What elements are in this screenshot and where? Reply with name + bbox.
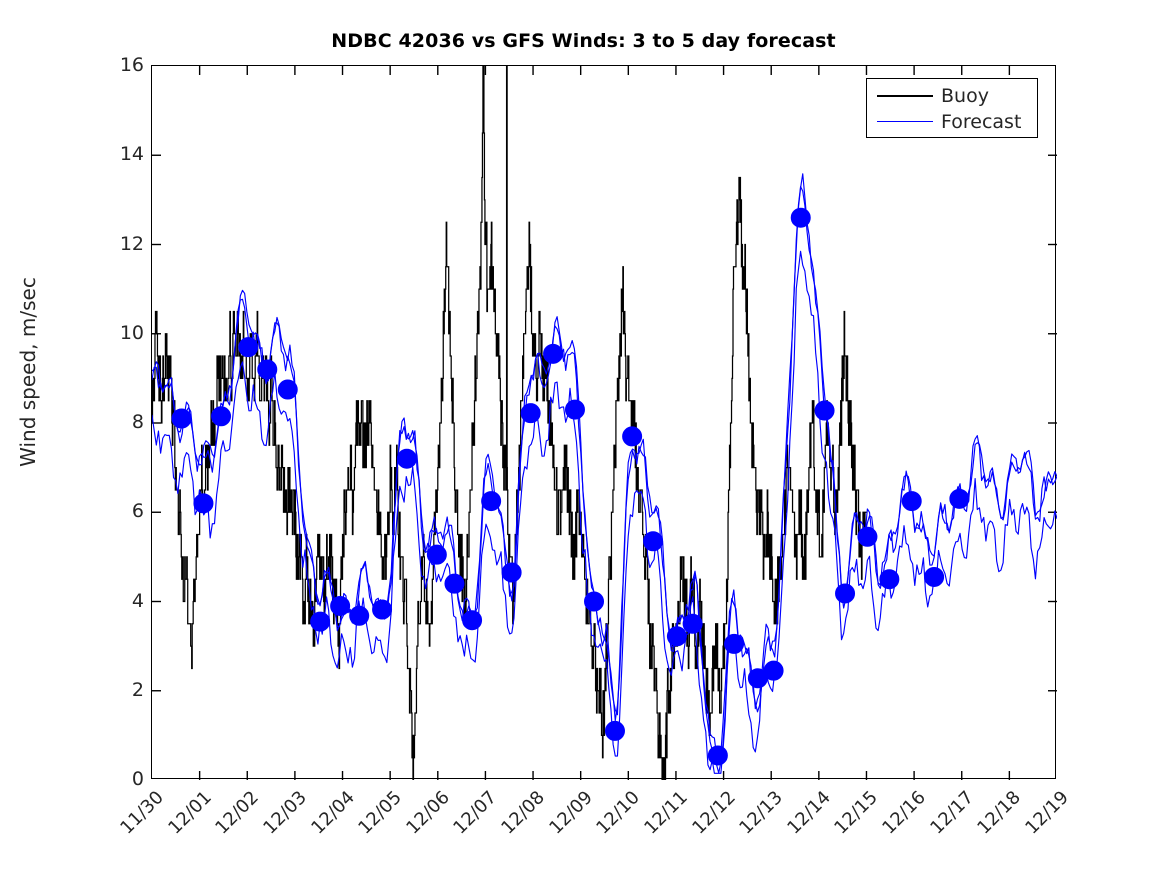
chart-title: NDBC 42036 vs GFS Winds: 3 to 5 day fore… [0, 30, 1167, 52]
legend-swatch-forecast [877, 121, 933, 122]
data-point-marker[interactable] [683, 614, 702, 633]
data-point-marker[interactable] [791, 208, 810, 227]
x-tick-label: 12/15 [824, 787, 883, 846]
y-axis-title: Wind speed, m/sec [16, 142, 40, 602]
data-point-marker[interactable] [565, 400, 584, 419]
data-point-marker[interactable] [880, 570, 899, 589]
x-tick-label: 12/14 [776, 787, 835, 846]
data-point-marker[interactable] [373, 600, 392, 619]
data-point-marker[interactable] [585, 592, 604, 611]
y-tick-label: 8 [94, 411, 144, 433]
data-point-marker[interactable] [445, 574, 464, 593]
data-point-marker[interactable] [350, 606, 369, 625]
x-tick-label: 12/12 [681, 787, 740, 846]
data-point-marker[interactable] [331, 596, 350, 615]
data-point-marker[interactable] [397, 449, 416, 468]
data-point-marker[interactable] [925, 567, 944, 586]
x-tick-label: 12/07 [443, 787, 502, 846]
data-point-marker[interactable] [764, 661, 783, 680]
y-tick-label: 6 [94, 500, 144, 522]
legend-item-buoy: Buoy [867, 83, 1039, 109]
data-point-marker[interactable] [463, 611, 482, 630]
x-tick-label: 12/13 [728, 787, 787, 846]
data-point-marker[interactable] [427, 545, 446, 564]
x-tick-label: 12/08 [490, 787, 549, 846]
data-point-marker[interactable] [311, 612, 330, 631]
x-tick-label: 12/01 [157, 787, 216, 846]
legend-label-forecast: Forecast [941, 109, 1021, 135]
x-tick-label: 12/17 [919, 787, 978, 846]
data-point-marker[interactable] [502, 563, 521, 582]
y-axis-tick-labels: 0246810121416 [88, 65, 144, 779]
x-tick-label: 12/19 [1014, 787, 1073, 846]
x-tick-label: 12/05 [347, 787, 406, 846]
x-tick-label: 12/11 [633, 787, 692, 846]
data-point-marker[interactable] [544, 344, 563, 363]
data-point-marker[interactable] [172, 409, 191, 428]
x-tick-label: 12/04 [300, 787, 359, 846]
data-point-marker[interactable] [521, 404, 540, 423]
x-tick-label: 12/10 [585, 787, 644, 846]
x-tick-label: 12/06 [395, 787, 454, 846]
data-point-marker[interactable] [858, 527, 877, 546]
y-tick-label: 4 [94, 590, 144, 612]
x-tick-label: 12/02 [204, 787, 263, 846]
data-point-marker[interactable] [239, 338, 258, 357]
x-axis-tick-labels: 11/3012/0112/0212/0312/0412/0512/0612/07… [151, 779, 1056, 874]
legend-item-forecast: Forecast [867, 109, 1039, 135]
data-point-marker[interactable] [815, 401, 834, 420]
legend: Buoy Forecast [866, 78, 1038, 138]
wind-speed-chart-figure: NDBC 42036 vs GFS Winds: 3 to 5 day fore… [0, 0, 1167, 875]
data-point-marker[interactable] [623, 427, 642, 446]
data-point-marker[interactable] [667, 627, 686, 646]
y-tick-label: 14 [94, 143, 144, 165]
data-point-marker[interactable] [194, 494, 213, 513]
y-tick-label: 2 [94, 679, 144, 701]
plot-canvas [152, 66, 1057, 780]
plot-area[interactable] [151, 65, 1056, 779]
data-point-marker[interactable] [278, 380, 297, 399]
x-tick-label: 11/30 [109, 787, 168, 846]
legend-label-buoy: Buoy [941, 83, 989, 109]
data-point-marker[interactable] [725, 634, 744, 653]
y-tick-label: 12 [94, 233, 144, 255]
data-point-marker[interactable] [708, 746, 727, 765]
x-tick-label: 12/09 [538, 787, 597, 846]
data-point-marker[interactable] [950, 489, 969, 508]
data-point-marker[interactable] [902, 492, 921, 511]
y-tick-label: 16 [94, 54, 144, 76]
y-tick-label: 0 [94, 768, 144, 790]
data-point-marker[interactable] [258, 360, 277, 379]
data-point-marker[interactable] [644, 532, 663, 551]
data-point-marker[interactable] [482, 492, 501, 511]
legend-swatch-buoy [877, 95, 933, 97]
data-point-marker[interactable] [836, 584, 855, 603]
y-tick-label: 10 [94, 322, 144, 344]
x-tick-label: 12/03 [252, 787, 311, 846]
x-tick-label: 12/16 [871, 787, 930, 846]
data-point-marker[interactable] [605, 721, 624, 740]
daily-mean-markers [172, 208, 969, 765]
data-point-marker[interactable] [212, 407, 231, 426]
x-tick-label: 12/18 [967, 787, 1026, 846]
